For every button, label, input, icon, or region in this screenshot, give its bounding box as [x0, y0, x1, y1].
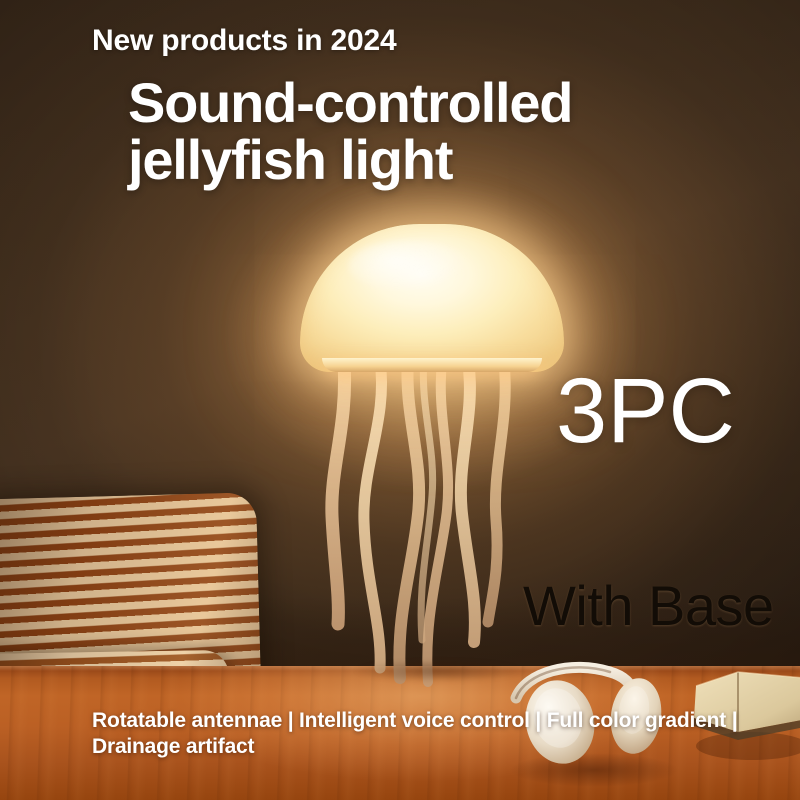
feature-list: Rotatable antennae | Intelligent voice c…: [92, 708, 772, 759]
headline-line-1: Sound-controlled: [128, 74, 572, 131]
eyebrow-text: New products in 2024: [92, 24, 396, 58]
page-title: Sound-controlled jellyfish light: [128, 74, 572, 188]
headline-line-2: jellyfish light: [128, 131, 572, 188]
quantity-badge: 3PC: [556, 365, 735, 457]
with-base-badge: With Base: [523, 578, 774, 634]
product-banner: New products in 2024 Sound-controlled je…: [0, 0, 800, 800]
text-overlay: New products in 2024 Sound-controlled je…: [0, 0, 800, 800]
